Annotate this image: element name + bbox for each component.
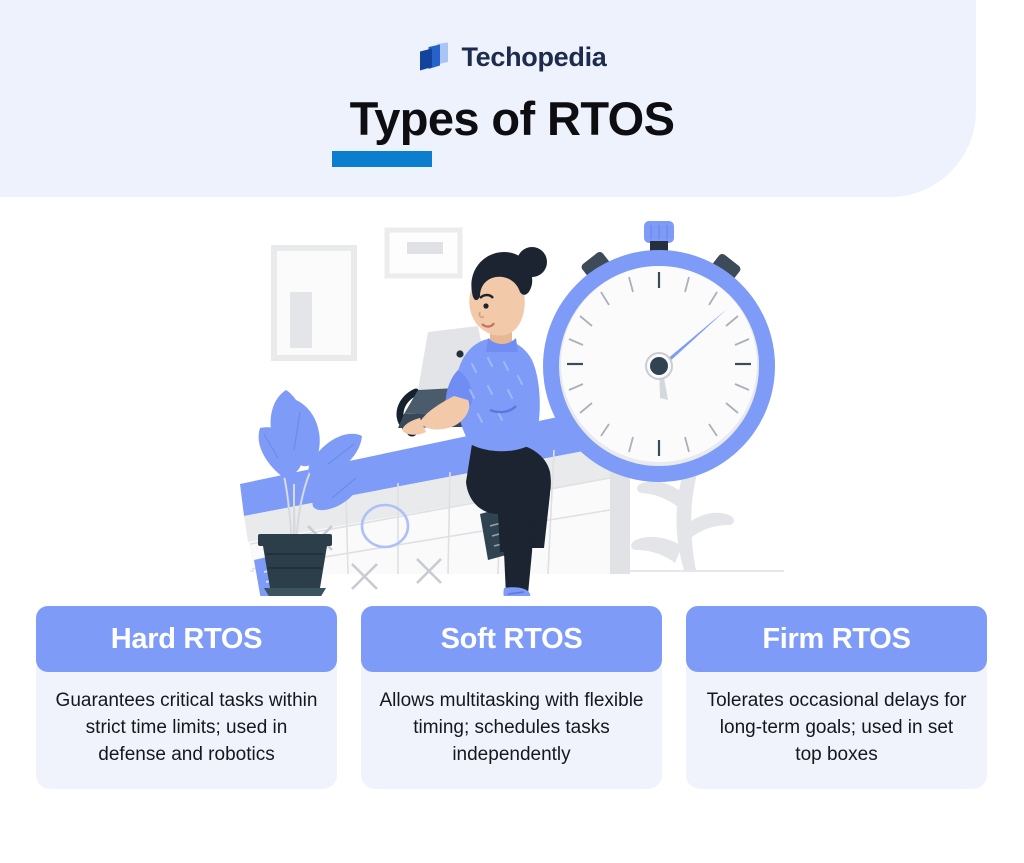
card-firm-rtos[interactable]: Firm RTOS Tolerates occasional delays fo… <box>686 606 987 789</box>
card-header-firm-rtos: Firm RTOS <box>686 606 987 672</box>
stopwatch <box>543 221 776 482</box>
card-soft-rtos[interactable]: Soft RTOS Allows multitasking with flexi… <box>361 606 662 789</box>
card-body-firm-rtos: Tolerates occasional delays for long-ter… <box>686 666 987 789</box>
card-description: Tolerates occasional delays for long-ter… <box>704 688 969 769</box>
card-header-hard-rtos: Hard RTOS <box>36 606 337 672</box>
rtos-type-cards: Hard RTOS Guarantees critical tasks with… <box>36 606 988 789</box>
plant-pot <box>262 540 328 588</box>
page-title: Types of RTOS <box>0 93 1024 145</box>
title-underline <box>332 151 432 167</box>
illustration-canvas <box>232 214 802 596</box>
stopwatch-pivot <box>650 357 668 375</box>
eye <box>483 303 488 308</box>
card-title: Soft RTOS <box>441 625 583 654</box>
card-description: Allows multitasking with flexible timing… <box>379 688 644 769</box>
card-title: Firm RTOS <box>762 625 910 654</box>
card-hard-rtos[interactable]: Hard RTOS Guarantees critical tasks with… <box>36 606 337 789</box>
card-header-soft-rtos: Soft RTOS <box>361 606 662 672</box>
card-body-soft-rtos: Allows multitasking with flexible timing… <box>361 666 662 789</box>
brand-name: Techopedia <box>461 44 606 71</box>
card-body-hard-rtos: Guarantees critical tasks within strict … <box>36 666 337 789</box>
hero-illustration <box>232 214 802 596</box>
brand-logo: Techopedia <box>0 40 1024 74</box>
techopedia-logo-icon <box>417 40 451 74</box>
card-description: Guarantees critical tasks within strict … <box>54 688 319 769</box>
picture-frame-tall <box>274 248 354 358</box>
card-title: Hard RTOS <box>111 625 262 654</box>
picture-frame-wide <box>387 230 460 276</box>
